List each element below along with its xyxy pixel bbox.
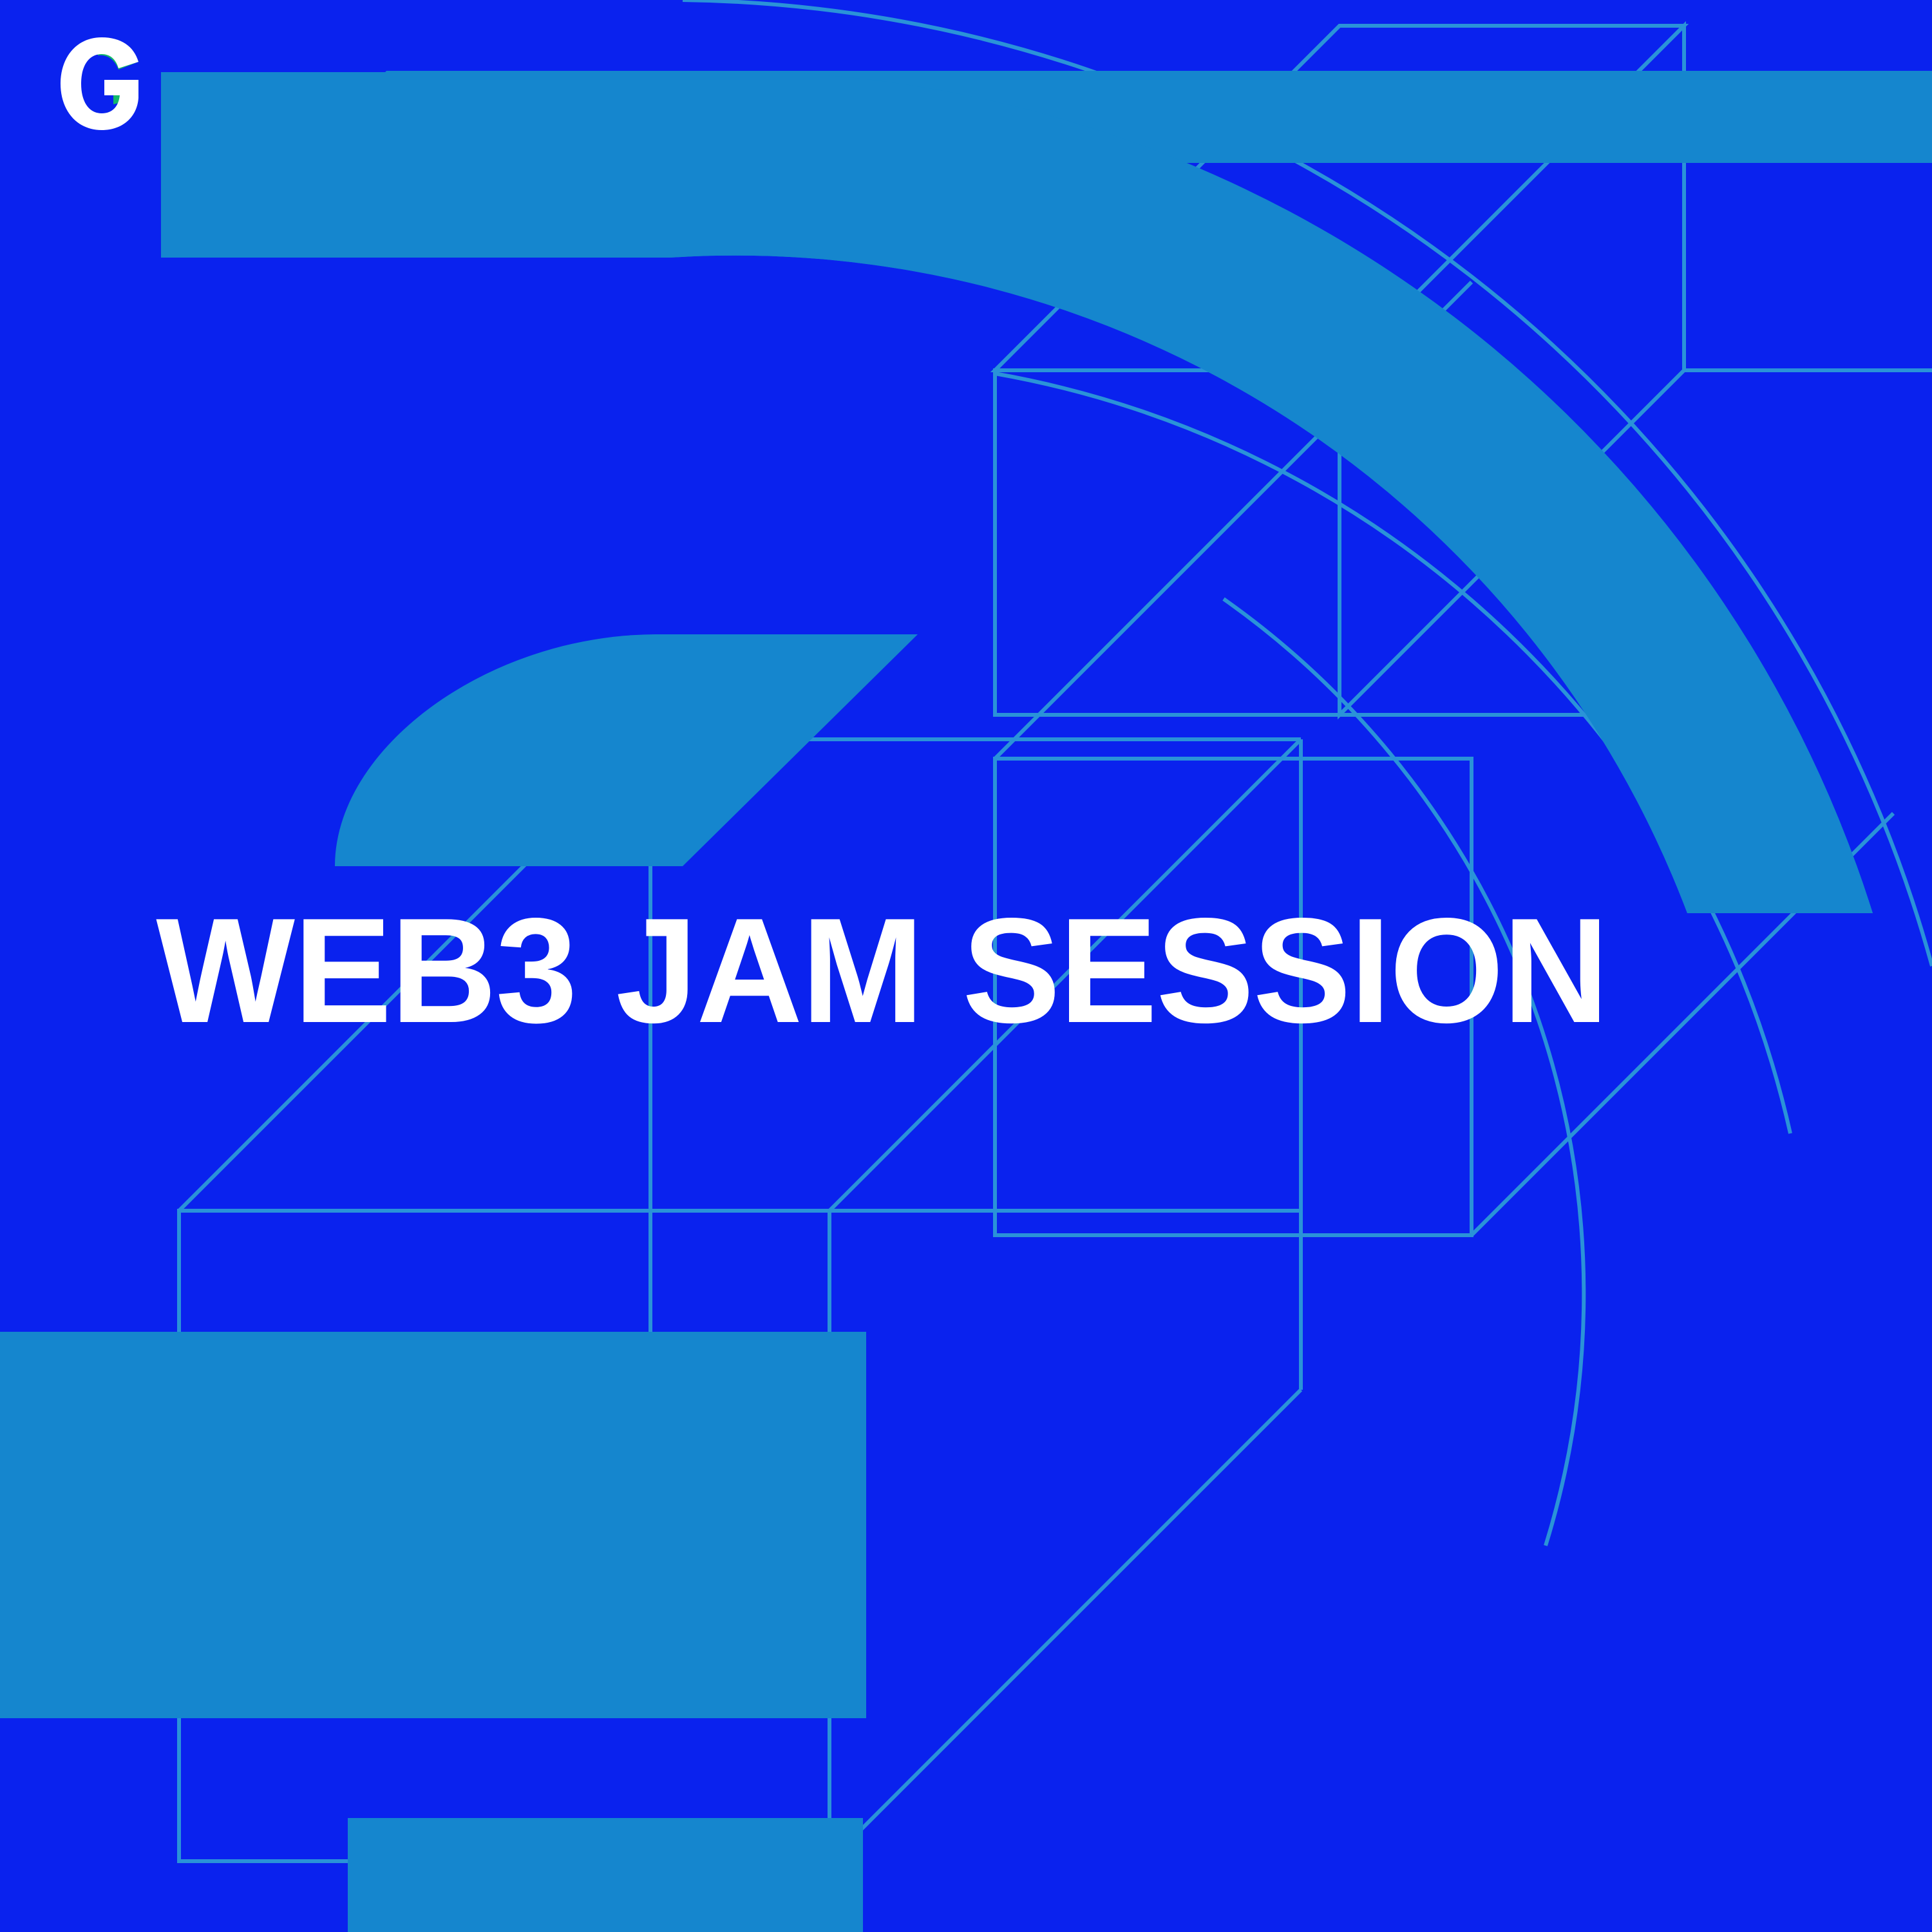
logo-body xyxy=(61,37,138,130)
bottom-left-rectangle-slab xyxy=(0,1332,866,1718)
background-artwork xyxy=(0,0,1932,1932)
coindesk-g-monogram-icon xyxy=(50,28,153,138)
poster-canvas: WEB3 JAM SESSION xyxy=(0,0,1932,1932)
brand-logo[interactable] xyxy=(50,28,153,138)
bottom-center-rectangle-slab xyxy=(348,1818,863,1932)
